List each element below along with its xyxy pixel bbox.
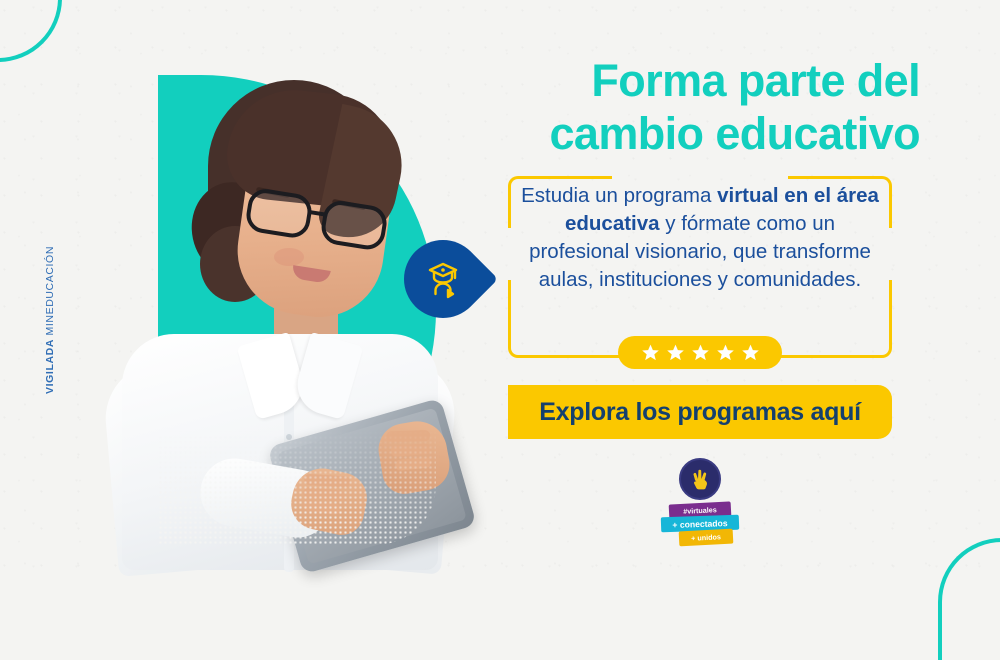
star-rating <box>618 336 782 369</box>
star-icon <box>641 343 660 362</box>
headline-line-1: Forma parte del <box>500 54 920 107</box>
shirt-button <box>286 434 292 440</box>
peace-hand-badge <box>679 458 721 500</box>
star-icon <box>691 343 710 362</box>
finger <box>302 499 341 515</box>
cheek <box>274 248 304 266</box>
accreditation-text: VIGILADA MINEDUCACIÓN <box>44 246 56 394</box>
finger <box>304 474 351 488</box>
star-icon <box>666 343 685 362</box>
finger <box>386 430 430 443</box>
banner-canvas: VIGILADA MINEDUCACIÓN <box>0 0 1000 600</box>
peace-hand-icon <box>689 467 711 491</box>
corner-arc-bottom-right-icon <box>938 538 1000 660</box>
explore-programs-button[interactable]: Explora los programas aquí <box>508 385 892 439</box>
accreditation-light: MINEDUCACIÓN <box>44 246 56 335</box>
finger <box>395 456 432 471</box>
star-icon <box>741 343 760 362</box>
graduate-icon <box>404 240 482 318</box>
student-photo <box>96 62 456 562</box>
star-icon <box>716 343 735 362</box>
body-part-1: Estudia un programa <box>521 184 717 207</box>
page-title: Forma parte del cambio educativo <box>500 54 920 160</box>
graduate-badge <box>388 224 498 334</box>
headline-line-2: cambio educativo <box>500 107 920 160</box>
institution-logo: #virtuales + conectados + unidos <box>657 458 743 546</box>
lens-right <box>319 198 389 251</box>
finger <box>390 443 431 457</box>
lens-left <box>244 187 314 240</box>
ribbon-unidos: + unidos <box>679 529 734 547</box>
body-copy: Estudia un programa virtual en el área e… <box>516 182 884 294</box>
accreditation-bold: VIGILADA <box>44 339 56 394</box>
corner-arc-top-left-icon <box>0 0 62 62</box>
